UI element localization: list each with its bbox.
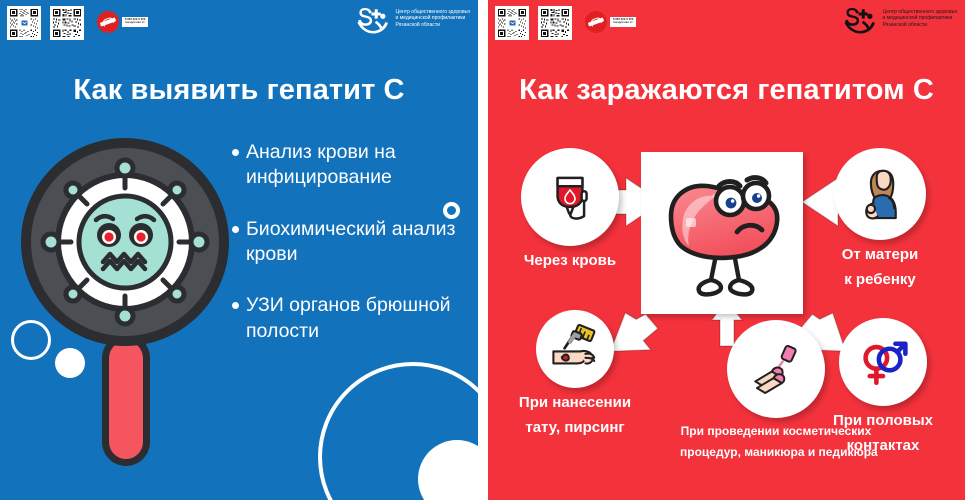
transmission-node-label-line1: От матери: [815, 246, 945, 265]
gender-symbols-icon: [839, 318, 927, 406]
hotline-text: 8 800 200-0 200 ТАКЗДОРОВО.РУ: [122, 17, 148, 26]
list-item-label: УЗИ органов брюшной полости: [246, 293, 472, 344]
detection-method-list: Анализ крови на инфицирование Биохимичес…: [232, 140, 472, 370]
nail-polish-icon: [727, 320, 825, 418]
transmission-node-sex: При половых контактах: [823, 318, 943, 456]
list-item-label: Биохимический анализ крови: [246, 217, 472, 268]
transmission-node-label: Через кровь: [510, 252, 630, 271]
org-line-2: и медицинской профилактики: [882, 15, 957, 21]
list-item-label: Анализ крови на инфицирование: [246, 140, 472, 191]
poster-left-title: Как выявить гепатит С: [0, 74, 478, 107]
hotline-site: ТАКЗДОРОВО.РУ: [125, 22, 145, 24]
transmission-node-label-line1: При нанесении: [512, 394, 638, 413]
header-codes: 8 800 200-0 200 ТАКЗДОРОВО.РУ: [7, 6, 148, 40]
tattoo-machine-icon: [536, 310, 614, 388]
poster-right-title: Как заражаются гепатитом С: [488, 74, 965, 107]
sad-liver-character: [641, 152, 803, 314]
hepatitis-c-poster-pair: 8 800 200-0 200 ТАКЗДОРОВО.РУ: [0, 0, 965, 500]
org-line-3: Рязанской области: [395, 22, 470, 28]
health-center-logo-block: Центр общественного здоровья и медицинск…: [356, 7, 470, 37]
list-item: УЗИ органов брюшной полости: [232, 293, 472, 344]
transmission-node-blood: Через кровь: [510, 148, 630, 271]
transmission-node-label-line2: к ребенку: [815, 271, 945, 290]
transmission-node-mother: От матери к ребенку: [815, 148, 945, 290]
qr-code-telegram[interactable]: [7, 6, 41, 40]
hotline-text: 8 800 200-0 200 ТАКЗДОРОВО.РУ: [610, 17, 636, 26]
qr-code-site[interactable]: [538, 6, 572, 40]
header-codes: 8 800 200-0 200 ТАКЗДОРОВО.РУ: [495, 6, 636, 40]
bullet-dot-icon: [232, 149, 239, 156]
transmission-diagram: Через кровь От матери: [488, 120, 965, 500]
org-name: Центр общественного здоровья и медицинск…: [395, 7, 470, 28]
health-center-logo: [843, 7, 877, 37]
bullet-dot-icon: [232, 226, 239, 233]
qr-code-telegram[interactable]: [495, 6, 529, 40]
pregnant-woman-icon: [834, 148, 926, 240]
hotline-badge: 8 800 200-0 200 ТАКЗДОРОВО.РУ: [97, 11, 148, 33]
hotline-phone-icon: [97, 11, 119, 33]
poster-left-header: 8 800 200-0 200 ТАКЗДОРОВО.РУ: [0, 0, 478, 46]
hotline-phone-icon: [585, 11, 607, 33]
org-line-2: и медицинской профилактики: [395, 15, 470, 21]
magnifying-glass-with-virus: [18, 138, 233, 468]
transmission-node-tattoo: При нанесении тату, пирсинг: [512, 310, 638, 438]
org-line-3: Рязанской области: [882, 22, 957, 28]
list-item: Анализ крови на инфицирование: [232, 140, 472, 191]
qr-code-site[interactable]: [50, 6, 84, 40]
hotline-badge: 8 800 200-0 200 ТАКЗДОРОВО.РУ: [585, 11, 636, 33]
hotline-site: ТАКЗДОРОВО.РУ: [613, 22, 633, 24]
poster-right-header: 8 800 200-0 200 ТАКЗДОРОВО.РУ: [488, 0, 965, 46]
transmission-node-label-line2: контактах: [823, 437, 943, 456]
poster-right: 8 800 200-0 200 ТАКЗДОРОВО.РУ: [488, 0, 965, 500]
blood-bag-icon: [521, 148, 619, 246]
transmission-node-label-line2: тату, пирсинг: [512, 419, 638, 438]
transmission-node-label-line1: При половых: [823, 412, 943, 431]
health-center-logo: [356, 7, 390, 37]
bullet-dot-icon: [232, 302, 239, 309]
list-item: Биохимический анализ крови: [232, 217, 472, 268]
org-name: Центр общественного здоровья и медицинск…: [882, 7, 957, 28]
poster-left: 8 800 200-0 200 ТАКЗДОРОВО.РУ: [0, 0, 478, 500]
health-center-logo-block: Центр общественного здоровья и медицинск…: [843, 7, 957, 37]
